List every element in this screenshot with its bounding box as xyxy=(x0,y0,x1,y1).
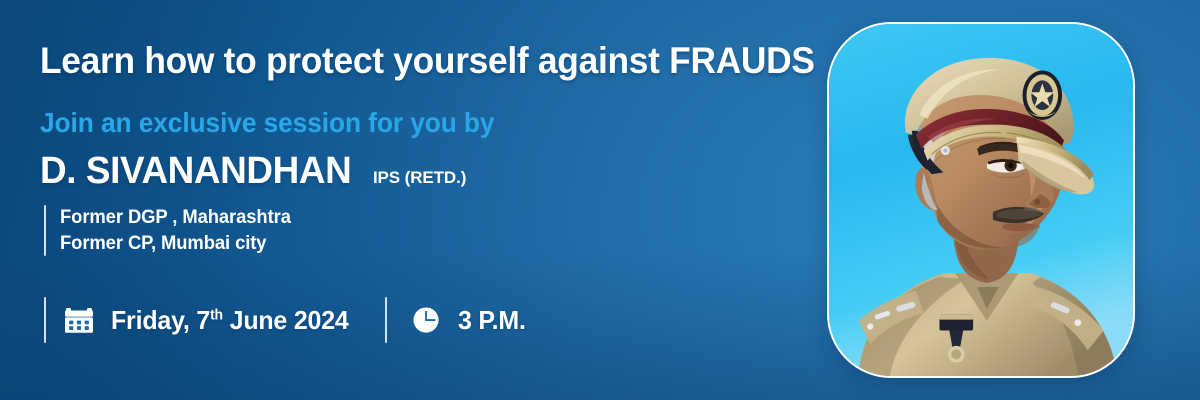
credential-line: Former DGP , Maharashtra xyxy=(60,205,291,231)
fraud-awareness-banner: Learn how to protect yourself against FR… xyxy=(0,0,1200,400)
event-date-month-year: June 2024 xyxy=(223,305,349,335)
event-date: Friday, 7th June 2024 xyxy=(62,296,359,344)
clock-icon xyxy=(409,303,443,337)
speaker-portrait-card xyxy=(827,22,1135,378)
page-title: Learn how to protect yourself against FR… xyxy=(40,42,815,81)
officer-portrait xyxy=(829,24,1133,376)
credential-line-list: Former DGP , Maharashtra Former CP, Mumb… xyxy=(60,205,291,256)
banner-copy-block: Learn how to protect yourself against FR… xyxy=(40,0,840,400)
calendar-icon xyxy=(62,303,96,337)
credential-line: Former CP, Mumbai city xyxy=(60,231,291,257)
speaker-designation-suffix: IPS (RETD.) xyxy=(373,169,466,186)
credentials-accent-bar xyxy=(44,205,46,256)
speaker-credentials: Former DGP , Maharashtra Former CP, Mumb… xyxy=(44,205,298,256)
event-meta-row: Friday, 7th June 2024 3 P.M. xyxy=(44,296,528,344)
event-time-text: 3 P.M. xyxy=(458,307,526,333)
speaker-name-row: D. SIVANANDHAN IPS (RETD.) xyxy=(40,152,466,190)
event-date-text: Friday, 7th June 2024 xyxy=(111,307,349,333)
event-date-weekday-day: Friday, 7 xyxy=(111,305,210,335)
meta-middle-divider xyxy=(385,297,387,343)
event-time: 3 P.M. xyxy=(409,296,529,344)
banner-subheadline: Join an exclusive session for you by xyxy=(40,108,494,137)
meta-leading-divider xyxy=(44,297,46,343)
speaker-name: D. SIVANANDHAN xyxy=(40,152,351,190)
event-date-ordinal: th xyxy=(210,307,223,323)
